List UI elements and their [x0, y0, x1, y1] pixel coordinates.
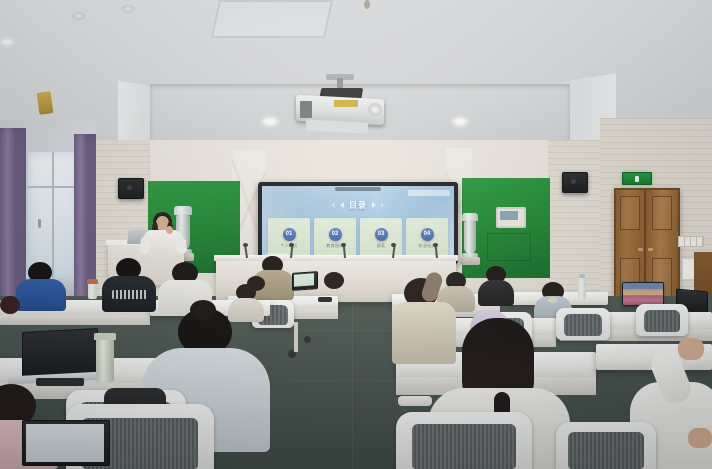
tablet-on-desk[interactable] [36, 378, 84, 386]
green-wall-inset [487, 233, 531, 261]
water-bottle [578, 278, 586, 300]
smoke-detector [121, 5, 135, 13]
chair-mesh-panel [564, 314, 602, 336]
smoke-detector [72, 12, 85, 20]
window-rail [28, 186, 78, 188]
door-panel [652, 196, 672, 230]
projection-screen-frame: 目录 01 个人简历 02 教育经历 03 获奖 04 [258, 182, 458, 264]
ceiling-access-panel [211, 0, 333, 38]
drink-cup [96, 338, 114, 382]
microphone-head [289, 243, 294, 247]
door-handle[interactable] [638, 248, 643, 251]
floor-seam [352, 300, 353, 469]
exit-sign [622, 172, 652, 185]
slide-card-number: 03 [375, 228, 388, 241]
wall-speaker-right-cone [571, 179, 576, 184]
light-switch-panel[interactable] [678, 236, 704, 247]
downlight [0, 38, 14, 46]
slide-card-label: 获奖 [377, 243, 386, 249]
downlight [452, 117, 468, 126]
door-handle[interactable] [648, 248, 653, 251]
chevron-right-icon [381, 202, 385, 208]
student-body [478, 280, 514, 306]
downlight [262, 117, 278, 126]
chair-armrest [398, 396, 432, 406]
slide-card-number: 01 [283, 228, 296, 241]
chair-mesh-panel [412, 424, 516, 469]
front-desk-top-edge [214, 255, 458, 261]
slide-title: 目录 [349, 200, 367, 211]
student-body [16, 279, 66, 311]
classroom-photo: 目录 01 个人简历 02 教育经历 03 获奖 04 [0, 0, 712, 469]
sprinkler-head [364, 0, 370, 9]
slide-card-list: 01 个人简历 02 教育经历 03 获奖 04 毕业论文 [268, 218, 448, 258]
laptop-display [294, 273, 314, 286]
door-panel [620, 196, 640, 230]
chevron-left-icon [331, 202, 335, 208]
chair-mesh-panel [568, 432, 644, 469]
wall-speaker-left-cone [127, 185, 132, 190]
wall-control-panel-screen [500, 211, 518, 220]
microphone-head [341, 243, 346, 247]
window-mullion [52, 152, 54, 280]
presenter-hand [166, 226, 173, 234]
running-man-icon [635, 176, 639, 182]
light-switch[interactable] [697, 237, 703, 246]
chair-caster [304, 336, 311, 343]
cup-lid [94, 333, 116, 340]
slide-badge [408, 190, 450, 196]
slide-card: 03 获奖 [360, 218, 402, 258]
slide-card: 01 个人简历 [268, 218, 310, 258]
laptop-display [26, 424, 104, 462]
monitor-screen [623, 283, 663, 305]
slide-card: 02 教育经历 [314, 218, 356, 258]
slide-card-number: 04 [421, 228, 434, 241]
chevron-left-icon [340, 202, 344, 208]
vase-right-body [464, 220, 476, 254]
microphone-head [391, 243, 396, 247]
paper-cup [88, 283, 97, 299]
ceiling-bracket [37, 91, 54, 115]
hand [678, 338, 704, 360]
projector-lens [368, 103, 382, 116]
shirt-print [112, 290, 148, 299]
microphone-head [433, 243, 438, 247]
cup-lid [87, 279, 98, 284]
hand [688, 428, 712, 448]
chair-mesh-panel [644, 310, 680, 332]
student-hair [0, 296, 20, 314]
vase-right-stand [460, 257, 480, 265]
slide-card-number: 02 [329, 228, 342, 241]
hair-bun [190, 300, 216, 320]
projector-vent [300, 101, 312, 118]
chair-post [294, 322, 298, 352]
phone-on-desk[interactable] [318, 297, 332, 302]
slide-toolbar[interactable] [335, 187, 381, 191]
student-hair [324, 272, 344, 289]
wall-monitor[interactable] [622, 282, 664, 306]
slide-title-row: 目录 [262, 198, 454, 212]
student-body [228, 298, 264, 322]
student-desk-front [0, 315, 150, 325]
hair-tie [548, 297, 558, 303]
student-body [392, 302, 456, 364]
bottle-cap [579, 274, 585, 278]
projector-label [334, 100, 358, 107]
window-handle[interactable] [38, 219, 41, 228]
slide-card: 04 毕业论文 [406, 218, 448, 258]
microphone-head [243, 243, 248, 247]
chevron-right-icon [372, 202, 376, 208]
